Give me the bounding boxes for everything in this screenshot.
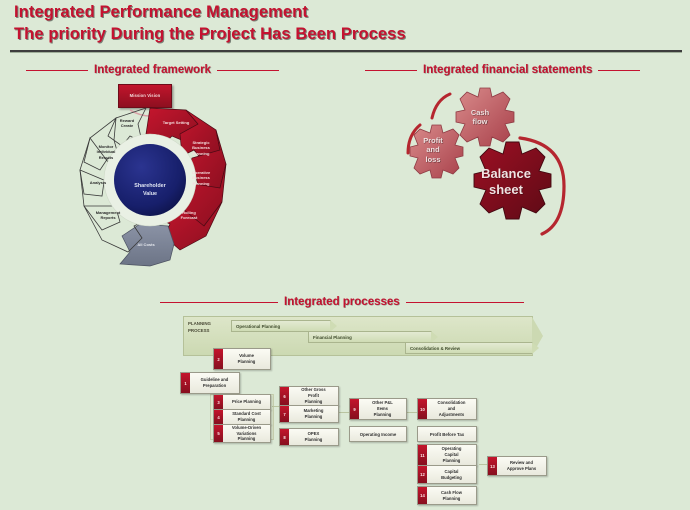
process-step-12[interactable]: 12 Capital Budgeting bbox=[417, 465, 477, 484]
process-step-label: Standard Cost Planning bbox=[223, 410, 270, 424]
caption-rule-right bbox=[217, 70, 279, 71]
process-step-label: Review and Approve Plans bbox=[497, 457, 546, 475]
gear-label-profit-loss: Profit and loss bbox=[407, 136, 459, 164]
process-step-label: Volume-Driven Variations Planning bbox=[223, 425, 270, 442]
process-step-8[interactable]: 8 OPEX Planning bbox=[279, 428, 339, 446]
process-step-label: Consolidation and Adjustments bbox=[427, 399, 476, 419]
process-step-11[interactable]: 11 Operating Capital Planning bbox=[417, 444, 477, 466]
slide-canvas: Integrated Performance Management The pr… bbox=[0, 0, 690, 510]
process-step-number: 5 bbox=[214, 425, 223, 442]
section-caption-financial-label: Integrated financial statements bbox=[423, 64, 592, 76]
section-caption-processes-label: Integrated processes bbox=[284, 296, 400, 308]
caption-rule-left bbox=[26, 70, 88, 71]
process-step-label: Marketing Planning bbox=[289, 406, 338, 422]
process-step-label: Guideline and Preparation bbox=[190, 373, 239, 393]
section-caption-framework-label: Integrated framework bbox=[94, 64, 211, 76]
phase-label: Operational Planning bbox=[232, 324, 280, 329]
process-step-number: 3 bbox=[214, 395, 223, 409]
section-caption-financial: Integrated financial statements bbox=[365, 62, 640, 78]
result-operating-income: Operating Income bbox=[349, 426, 407, 442]
process-step-label: Price Planning bbox=[223, 395, 270, 409]
process-step-9[interactable]: 9 Other P&L Items Planning bbox=[349, 398, 407, 420]
process-step-number: 12 bbox=[418, 466, 427, 483]
planning-process-band-label: PLANNING PROCESS bbox=[188, 321, 230, 334]
process-step-number: 7 bbox=[280, 406, 289, 422]
wheel-center-label: Shareholder Value bbox=[122, 182, 178, 198]
process-step-14[interactable]: 14 Cash Flow Planning bbox=[417, 486, 477, 505]
phase-consolidation-review: Consolidation & Review bbox=[405, 342, 533, 354]
integrated-processes-diagram: PLANNING PROCESS Operational Planning Fi… bbox=[183, 316, 543, 508]
process-step-number: 13 bbox=[488, 457, 497, 475]
process-step-label: Operating Capital Planning bbox=[427, 445, 476, 465]
section-caption-processes: Integrated processes bbox=[160, 294, 524, 310]
process-step-label: Other P&L Items Planning bbox=[359, 399, 406, 419]
process-step-6[interactable]: 6 Other Gross Profit Planning bbox=[279, 386, 339, 406]
caption-rule-right bbox=[598, 70, 640, 71]
process-step-label: OPEX Planning bbox=[289, 429, 338, 445]
process-step-10[interactable]: 10 Consolidation and Adjustments bbox=[417, 398, 477, 420]
process-step-number: 6 bbox=[280, 387, 289, 405]
caption-rule-left bbox=[160, 302, 278, 303]
process-step-3[interactable]: 3 Price Planning bbox=[213, 394, 271, 410]
process-step-1[interactable]: 1 Guideline and Preparation bbox=[180, 372, 240, 394]
process-step-number: 9 bbox=[350, 399, 359, 419]
process-step-number: 2 bbox=[214, 349, 223, 369]
gear-label-cash-flow: Cash flow bbox=[452, 108, 508, 127]
integrated-framework-diagram: Mission Vision bbox=[46, 84, 296, 280]
rotation-arc-top bbox=[432, 94, 450, 118]
phase-label: Financial Planning bbox=[309, 335, 352, 340]
process-step-number: 14 bbox=[418, 487, 427, 504]
process-step-number: 11 bbox=[418, 445, 427, 465]
caption-rule-right bbox=[406, 302, 524, 303]
slide-header: Integrated Performance Management The pr… bbox=[0, 0, 690, 52]
process-step-label: Cash Flow Planning bbox=[427, 487, 476, 504]
result-profit-before-tax: Profit Before Tax bbox=[417, 426, 477, 442]
phase-label: Consolidation & Review bbox=[406, 346, 460, 351]
process-step-number: 1 bbox=[181, 373, 190, 393]
process-step-label: Other Gross Profit Planning bbox=[289, 387, 338, 405]
header-divider bbox=[10, 50, 682, 53]
process-step-2[interactable]: 2 Volume Planning bbox=[213, 348, 271, 370]
process-step-label: Capital Budgeting bbox=[427, 466, 476, 483]
process-step-number: 10 bbox=[418, 399, 427, 419]
integrated-financial-statements-diagram: Cash flow Profit and loss Balance sheet bbox=[392, 80, 612, 270]
process-step-4[interactable]: 4 Standard Cost Planning bbox=[213, 409, 271, 425]
caption-rule-left bbox=[365, 70, 417, 71]
page-title-line-2: The priority During the Project Has Been… bbox=[14, 25, 406, 44]
process-step-7[interactable]: 7 Marketing Planning bbox=[279, 405, 339, 423]
section-caption-framework: Integrated framework bbox=[26, 62, 279, 78]
process-step-number: 4 bbox=[214, 410, 223, 424]
process-step-5[interactable]: 5 Volume-Driven Variations Planning bbox=[213, 424, 271, 443]
process-step-13[interactable]: 13 Review and Approve Plans bbox=[487, 456, 547, 476]
page-title-line-1: Integrated Performance Management bbox=[14, 3, 308, 22]
gear-label-balance-sheet: Balance sheet bbox=[464, 166, 548, 199]
process-step-number: 8 bbox=[280, 429, 289, 445]
process-step-label: Volume Planning bbox=[223, 349, 270, 369]
